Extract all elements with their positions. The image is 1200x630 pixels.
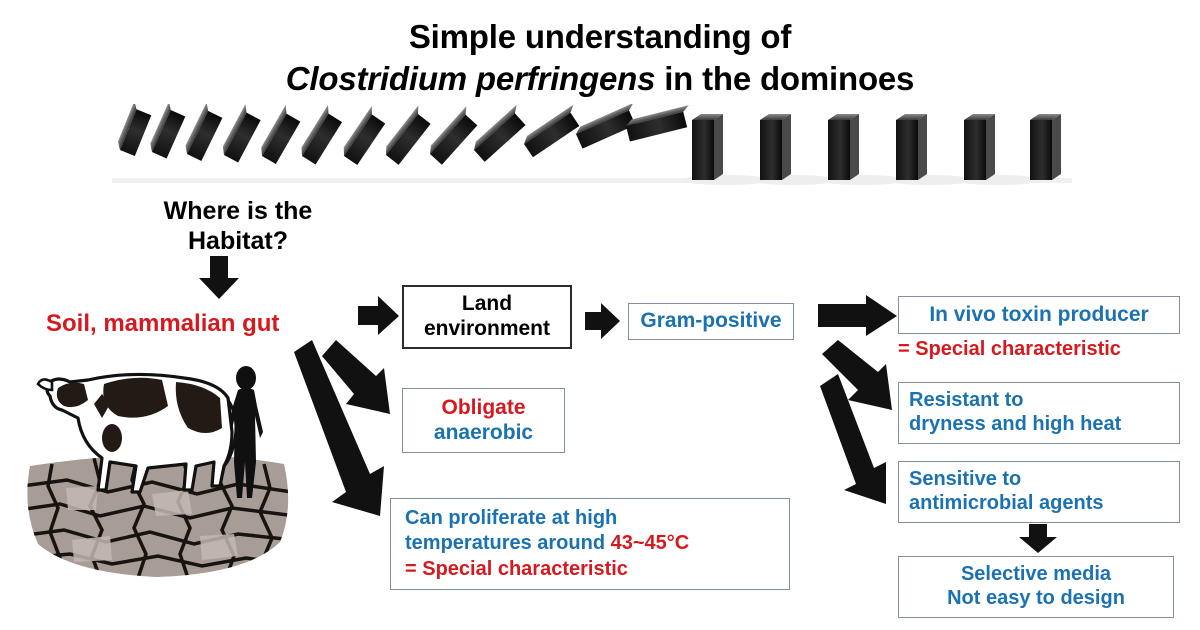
diagram-canvas: Simple understanding of Clostridium perf… <box>0 0 1200 630</box>
falling-dominoes-image <box>112 104 1072 200</box>
box-land-line-2: environment <box>404 317 570 342</box>
box-land-environment[interactable]: Land environment <box>402 285 572 349</box>
box-obligate-line-2: anaerobic <box>403 421 564 446</box>
box-media-line-2: Not easy to design <box>899 587 1173 611</box>
box-temperature-line-2-blue: temperatures around <box>405 532 611 554</box>
box-sensitive-to-antimicrobials[interactable]: Sensitive to antimicrobial agents <box>898 461 1180 523</box>
arrow-soil-to-temperature <box>292 340 402 525</box>
arrow-gram-to-toxin <box>818 295 898 342</box>
arrow-soil-to-land <box>358 296 400 341</box>
box-gram-line-1: Gram-positive <box>629 309 793 334</box>
box-obligate-anaerobic[interactable]: Obligate anaerobic <box>402 388 565 453</box>
box-in-vivo-toxin-producer[interactable]: In vivo toxin producer <box>898 296 1180 334</box>
habitat-question: Where is the Habitat? <box>118 196 358 256</box>
box-resistant-line-2: dryness and high heat <box>909 413 1169 437</box>
title-line-1: Simple understanding of <box>0 16 1200 58</box>
box-land-line-1: Land <box>404 292 570 317</box>
habitat-question-line-1: Where is the <box>118 196 358 226</box>
box-temperature-line-3: = Special characteristic <box>405 558 775 582</box>
habitat-question-line-2: Habitat? <box>118 226 358 256</box>
box-gram-positive[interactable]: Gram-positive <box>628 303 794 340</box>
box-sensitive-line-2: antimicrobial agents <box>909 492 1169 516</box>
box-temperature-line-1: Can proliferate at high <box>405 507 775 531</box>
box-selective-media[interactable]: Selective media Not easy to design <box>898 556 1174 618</box>
box-temperature-line-2-red: 43~45°C <box>611 532 690 554</box>
arrow-habitat-down <box>198 256 240 305</box>
arrow-sensitive-to-media <box>1018 524 1058 559</box>
box-resistant-line-1: Resistant to <box>909 389 1169 413</box>
box-toxin-line-1: In vivo toxin producer <box>899 303 1179 328</box>
title-line-2: Clostridium perfringens in the dominoes <box>0 58 1200 100</box>
habitat-illustration <box>12 358 297 580</box>
box-temperature-growth[interactable]: Can proliferate at high temperatures aro… <box>390 498 790 590</box>
box-sensitive-line-1: Sensitive to <box>909 468 1169 492</box>
title-line-2-rest: in the dominoes <box>655 60 914 97</box>
soil-habitat-label: Soil, mammalian gut <box>46 310 279 338</box>
arrow-gram-to-sensitive <box>818 372 908 513</box>
box-temperature-line-2: temperatures around 43~45°C <box>405 532 775 556</box>
arrow-land-to-gram <box>585 302 621 345</box>
box-resistant-to-dryness-heat[interactable]: Resistant to dryness and high heat <box>898 382 1180 444</box>
box-media-line-1: Selective media <box>899 563 1173 587</box>
toxin-special-characteristic-note: = Special characteristic <box>898 338 1180 361</box>
species-name: Clostridium perfringens <box>286 60 655 97</box>
box-obligate-line-1: Obligate <box>403 396 564 421</box>
page-title: Simple understanding of Clostridium perf… <box>0 16 1200 100</box>
